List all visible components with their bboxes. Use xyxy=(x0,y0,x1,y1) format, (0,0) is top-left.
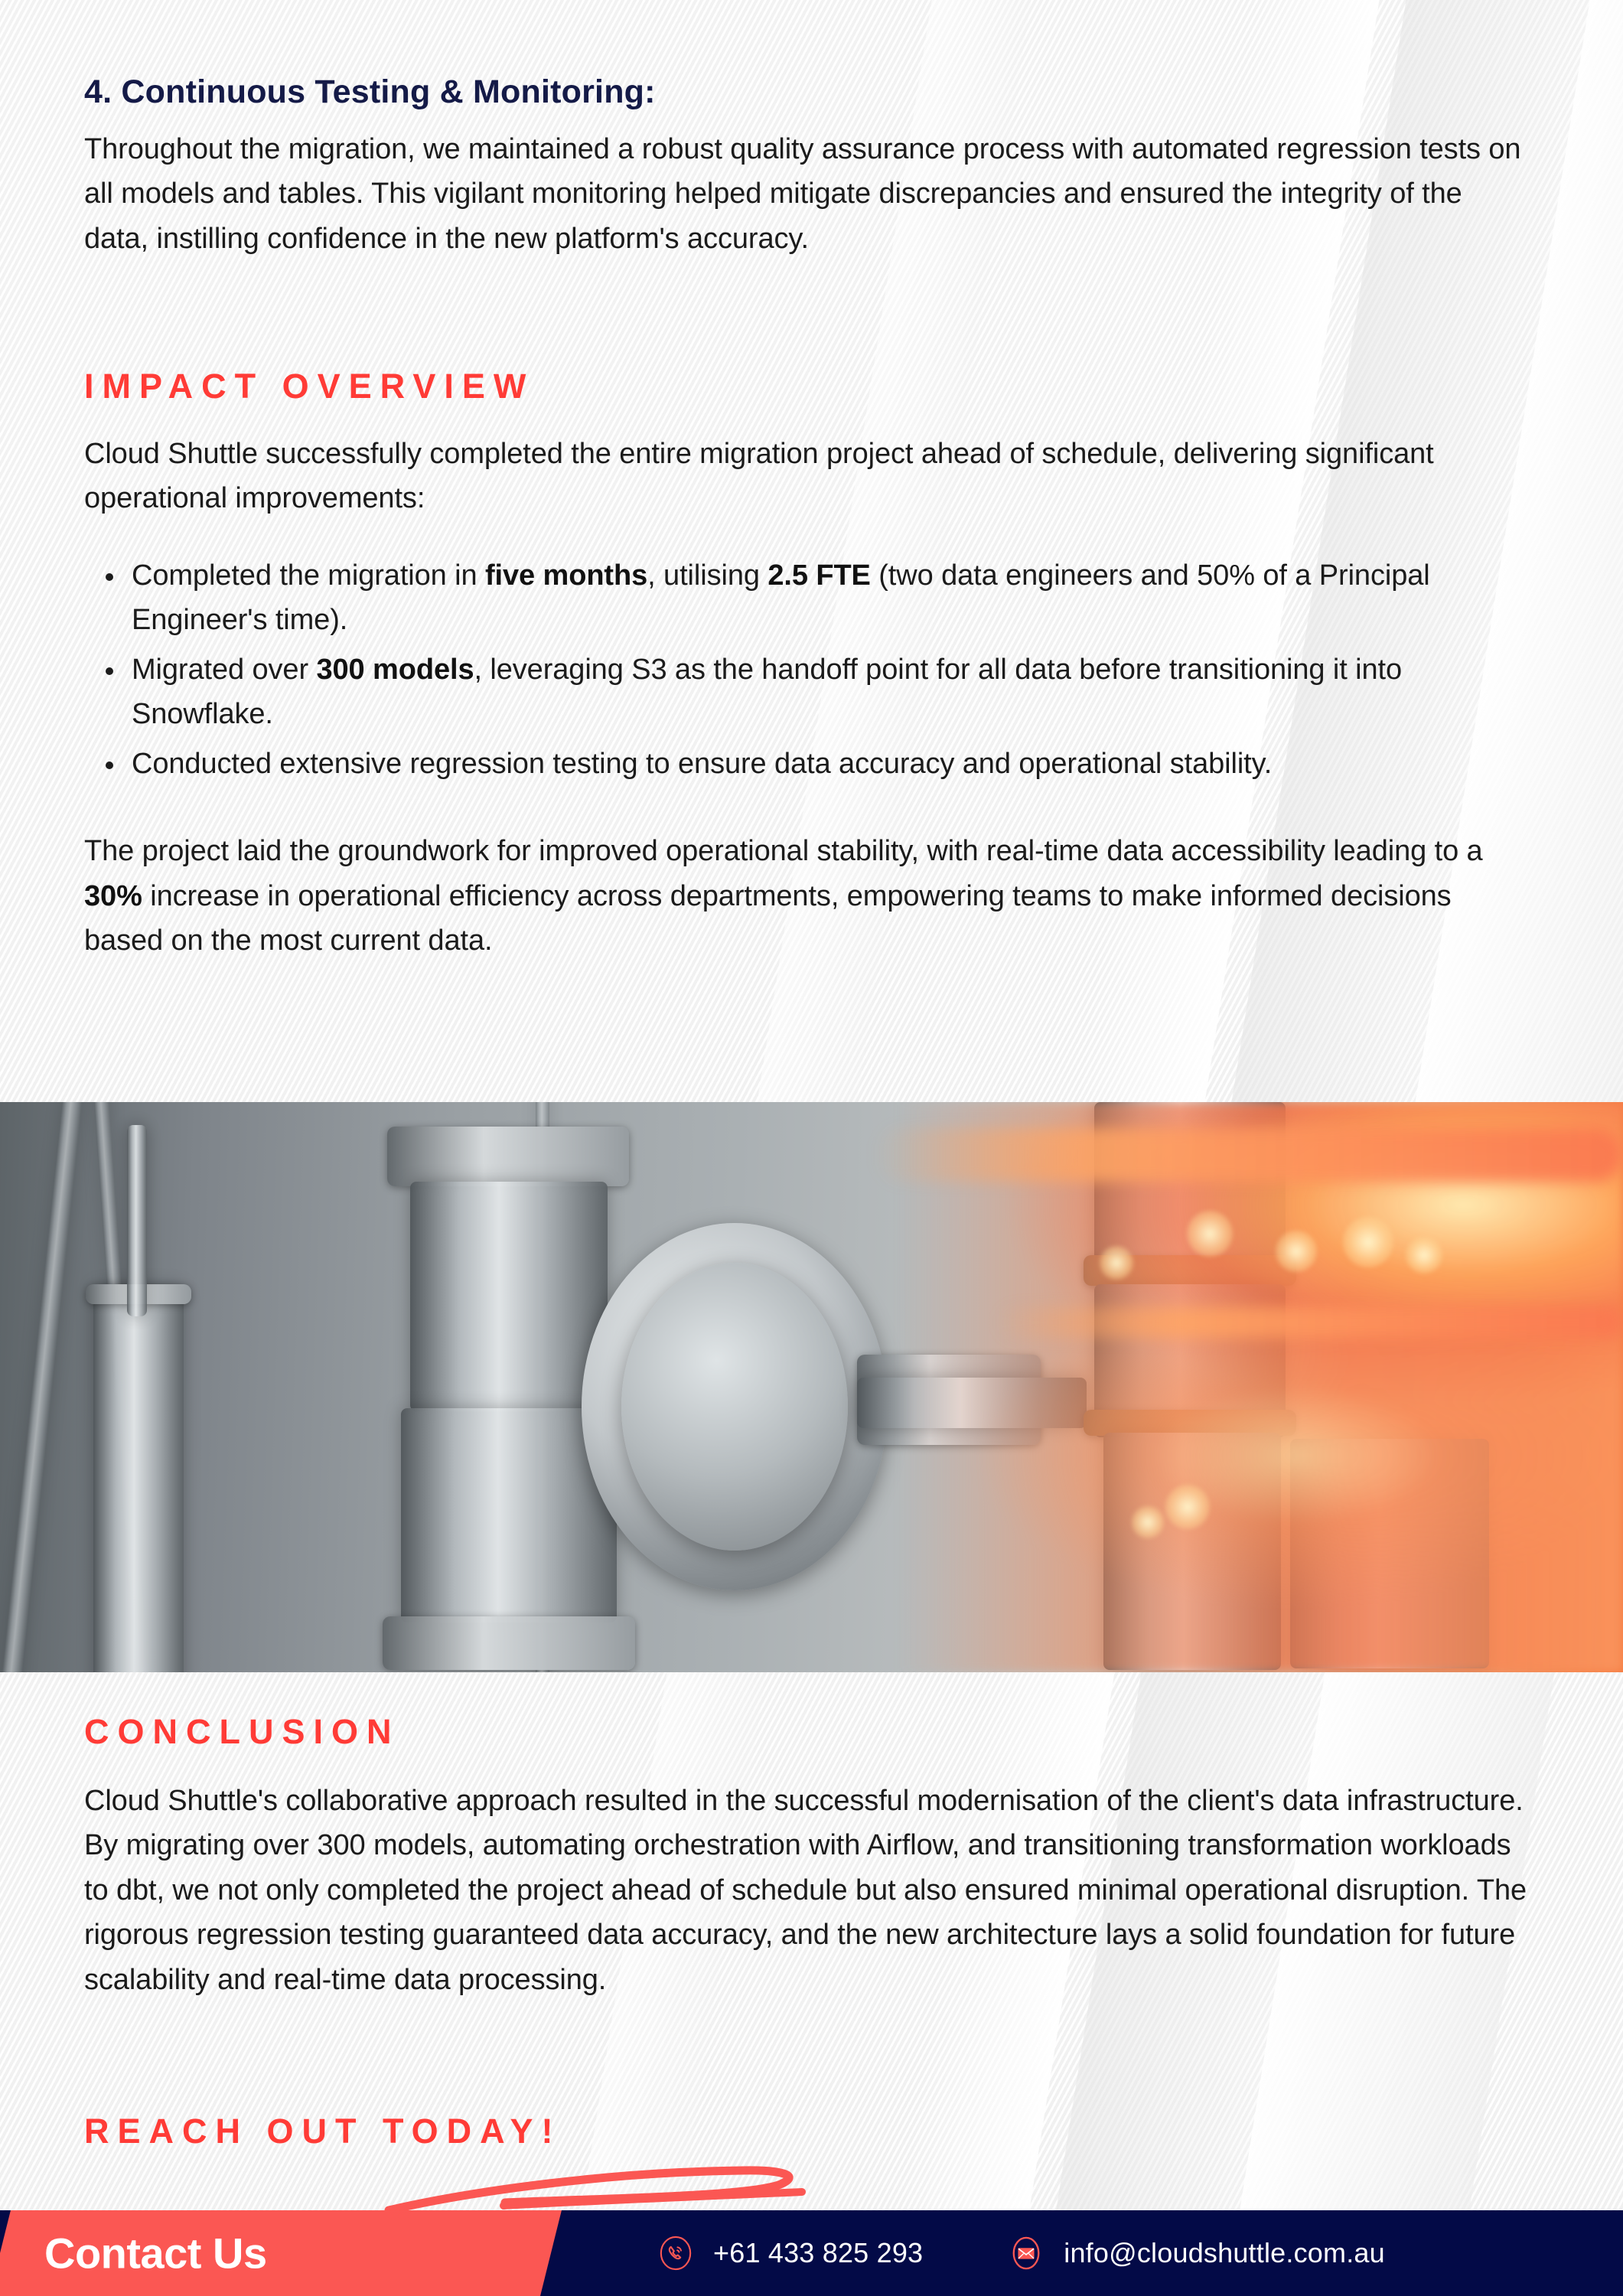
envelope-icon xyxy=(1009,2236,1044,2271)
cta-section: REACH OUT TODAY! xyxy=(84,2112,1538,2151)
plain-text: Completed the migration in xyxy=(132,559,485,592)
phone-icon xyxy=(658,2236,693,2271)
plain-text: , utilising xyxy=(647,559,768,592)
footer-email-item[interactable]: info@cloudshuttle.com.au xyxy=(1009,2236,1385,2271)
emphasis-text: five months xyxy=(485,559,647,592)
impact-closing-paragraph: The project laid the groundwork for impr… xyxy=(84,829,1507,964)
continuous-testing-heading: 4. Continuous Testing & Monitoring: xyxy=(84,72,1538,113)
plain-text: increase in operational efficiency acros… xyxy=(84,880,1452,957)
plain-text: Conducted extensive regression testing t… xyxy=(132,748,1272,780)
list-item: Completed the migration in five months, … xyxy=(132,553,1532,643)
plain-text: Migrated over xyxy=(132,654,316,686)
footer-phone-item[interactable]: +61 433 825 293 xyxy=(658,2236,923,2271)
industrial-pipework-photo xyxy=(0,1102,1623,1672)
contact-us-label: Contact Us xyxy=(44,2229,267,2278)
impact-overview-section: IMPACT OVERVIEW Cloud Shuttle successful… xyxy=(84,367,1538,964)
contact-footer: Contact Us +61 433 825 293 info xyxy=(0,2210,1623,2296)
footer-email-text: info@cloudshuttle.com.au xyxy=(1064,2237,1385,2269)
list-item: Conducted extensive regression testing t… xyxy=(132,742,1532,787)
emphasis-text: 30% xyxy=(84,880,142,912)
conclusion-section: CONCLUSION Cloud Shuttle's collaborative… xyxy=(84,1713,1538,2002)
impact-bullet-list: Completed the migration in five months, … xyxy=(84,553,1532,787)
footer-contact-items: +61 433 825 293 info@cloudshuttle.com.au xyxy=(658,2210,1385,2296)
footer-phone-text: +61 433 825 293 xyxy=(713,2237,923,2269)
continuous-testing-paragraph: Throughout the migration, we maintained … xyxy=(84,127,1523,262)
conclusion-paragraph: Cloud Shuttle's collaborative approach r… xyxy=(84,1779,1542,2003)
emphasis-text: 2.5 FTE xyxy=(768,559,870,592)
list-item: Migrated over 300 models, leveraging S3 … xyxy=(132,647,1532,737)
conclusion-heading: CONCLUSION xyxy=(84,1713,1538,1751)
impact-overview-heading: IMPACT OVERVIEW xyxy=(84,367,1538,406)
reach-out-today-heading: REACH OUT TODAY! xyxy=(84,2112,1538,2151)
emphasis-text: 300 models xyxy=(316,654,474,686)
continuous-testing-section: 4. Continuous Testing & Monitoring: Thro… xyxy=(84,72,1538,261)
document-page: 4. Continuous Testing & Monitoring: Thro… xyxy=(0,0,1623,2296)
impact-overview-intro: Cloud Shuttle successfully completed the… xyxy=(84,432,1500,521)
plain-text: The project laid the groundwork for impr… xyxy=(84,835,1483,867)
